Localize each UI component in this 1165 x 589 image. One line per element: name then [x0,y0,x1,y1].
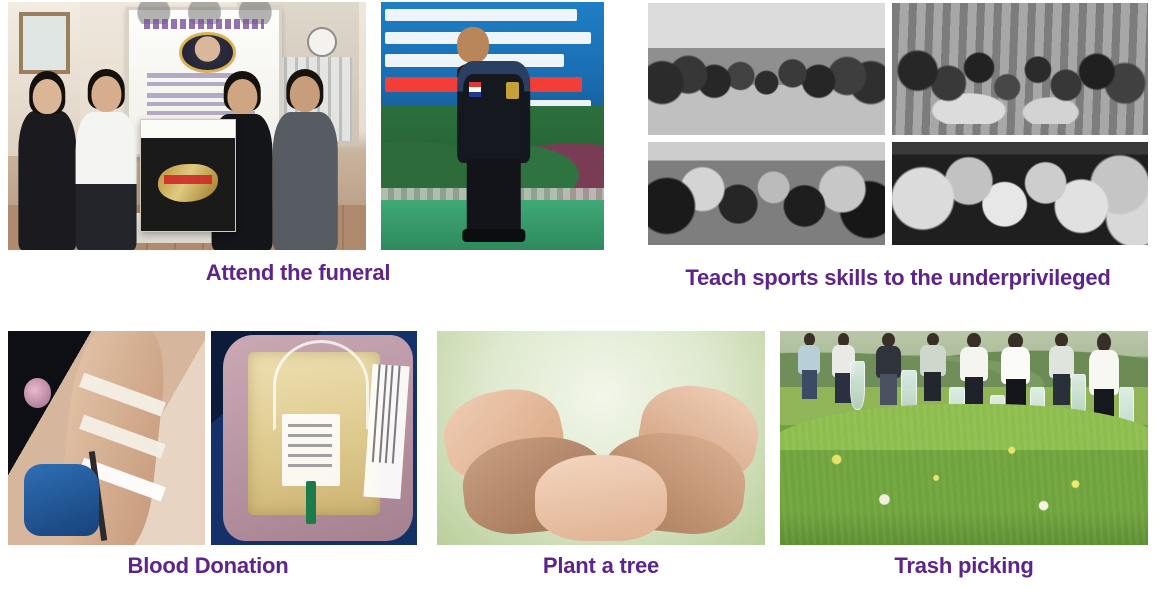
officer-in-front-of-banner-photo [381,2,604,250]
blood-collection-bag-photo [211,331,417,545]
volunteers-collecting-litter-photo [780,331,1148,545]
funeral-ceremony-group-photo [8,2,366,250]
donor-arm-with-needle-photo [8,331,205,545]
hands-holding-sapling-photo [437,331,765,545]
caption-attend-the-funeral: Attend the funeral [8,260,588,286]
children-seated-outside-school-photo [648,3,885,135]
caption-trash-picking: Trash picking [780,553,1148,579]
caption-teach-sports-skills: Teach sports skills to the underprivileg… [640,265,1156,291]
activities-photo-board: Attend the funeral Teach sports skills t… [0,0,1165,589]
smiling-children-close-up-photo [892,142,1148,245]
large-group-of-children-with-bags-photo [892,3,1148,135]
caption-plant-a-tree: Plant a tree [437,553,765,579]
children-gathered-outdoors-photo [648,142,885,245]
caption-blood-donation: Blood Donation [8,553,408,579]
